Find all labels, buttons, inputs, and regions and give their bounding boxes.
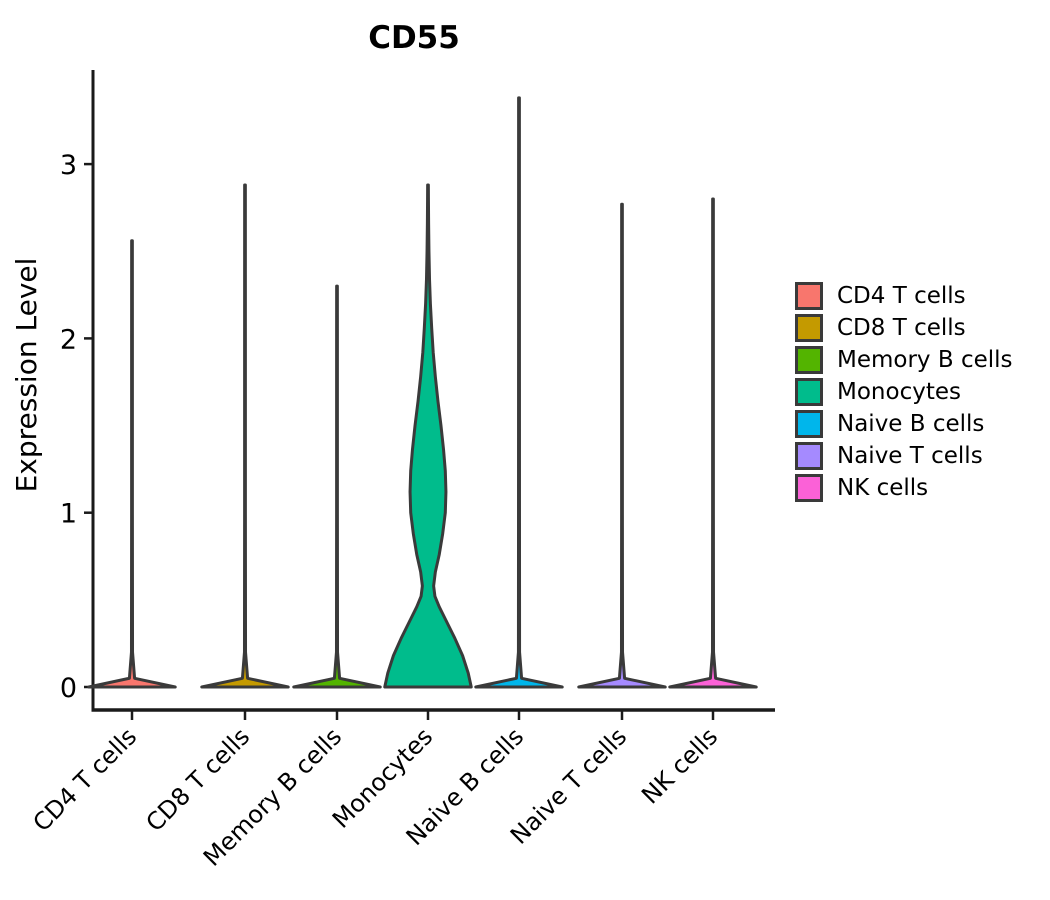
legend-item-label: CD8 T cells — [837, 317, 966, 340]
y-tick-label: 1 — [60, 499, 77, 530]
chart-title: CD55 — [368, 20, 460, 56]
legend-swatch — [795, 410, 823, 438]
legend: CD4 T cellsCD8 T cellsMemory B cellsMono… — [795, 280, 1013, 504]
legend-item[interactable]: Naive T cells — [795, 440, 1013, 472]
legend-item-label: Monocytes — [837, 381, 961, 404]
violin-monocytes[interactable] — [385, 185, 471, 687]
y-tick-label: 2 — [60, 324, 77, 355]
legend-item-label: Naive B cells — [837, 413, 984, 436]
legend-item[interactable]: NK cells — [795, 472, 1013, 504]
legend-swatch — [795, 474, 823, 502]
legend-item-label: NK cells — [837, 477, 928, 500]
legend-item[interactable]: CD8 T cells — [795, 312, 1013, 344]
x-tick-label: CD4 T cells — [28, 722, 143, 837]
legend-item[interactable]: Naive B cells — [795, 408, 1013, 440]
y-tick-label: 3 — [60, 150, 77, 181]
legend-swatch — [795, 442, 823, 470]
legend-item-label: Naive T cells — [837, 445, 983, 468]
x-tick-label: NK cells — [636, 722, 723, 809]
violin-plot-figure: 0123Expression LevelCD55CD4 T cellsCD8 T… — [0, 0, 1050, 900]
legend-item[interactable]: CD4 T cells — [795, 280, 1013, 312]
violin-cd8-t-cells[interactable] — [202, 185, 288, 687]
legend-swatch — [795, 378, 823, 406]
violin-memory-b-cells[interactable] — [294, 286, 380, 687]
violin-naive-b-cells[interactable] — [476, 98, 562, 687]
legend-item-label: Memory B cells — [837, 349, 1013, 372]
legend-item-label: CD4 T cells — [837, 285, 966, 308]
legend-item[interactable]: Memory B cells — [795, 344, 1013, 376]
y-tick-label: 0 — [60, 673, 77, 704]
violin-cd4-t-cells[interactable] — [89, 241, 175, 687]
violin-nk-cells[interactable] — [670, 199, 756, 687]
legend-item[interactable]: Monocytes — [795, 376, 1013, 408]
legend-swatch — [795, 314, 823, 342]
violin-naive-t-cells[interactable] — [579, 204, 665, 687]
legend-swatch — [795, 282, 823, 310]
y-axis-title: Expression Level — [10, 258, 43, 493]
legend-swatch — [795, 346, 823, 374]
